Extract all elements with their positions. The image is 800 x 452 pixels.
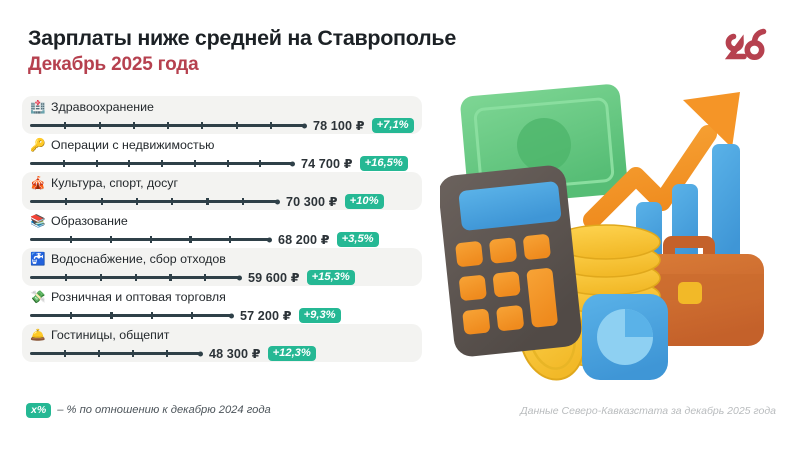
value-bar xyxy=(30,162,292,164)
bar-tick xyxy=(201,122,203,129)
bar-tick xyxy=(136,198,138,205)
bar-tick xyxy=(167,122,169,129)
logo-26 xyxy=(720,24,776,68)
row-category-label: Водоснабжение, сбор отходов xyxy=(51,251,226,268)
row-meter: 68 200 ₽+3,5% xyxy=(30,231,414,248)
pie-chart-tile-illustration xyxy=(582,294,668,380)
finance-3d-illustration xyxy=(440,78,790,390)
page-title: Зарплаты ниже средней на Ставрополье xyxy=(28,26,668,51)
bar-tick xyxy=(227,160,229,167)
row-category-label: Гостиницы, общепит xyxy=(51,327,169,344)
bar-tick xyxy=(99,122,101,129)
bar-tick xyxy=(151,312,153,319)
row-category-label: Розничная и оптовая торговля xyxy=(51,289,226,306)
bar-tick xyxy=(133,122,135,129)
salary-rows-list: 🏥Здравоохранение78 100 ₽+7,1%🔑Операции с… xyxy=(22,96,422,362)
table-row: 💸Розничная и оптовая торговля57 200 ₽+9,… xyxy=(22,286,422,324)
bellhop-bell-icon: 🛎️ xyxy=(30,329,45,342)
legend-badge: x% xyxy=(26,403,51,418)
row-category-label: Образование xyxy=(51,213,128,230)
bar-tick xyxy=(64,350,66,357)
bar-tick xyxy=(236,122,238,129)
bar-tick xyxy=(150,236,152,243)
row-meter: 78 100 ₽+7,1% xyxy=(30,117,414,134)
bar-tick xyxy=(204,274,206,281)
bar-tick xyxy=(110,236,112,243)
table-row: 🏥Здравоохранение78 100 ₽+7,1% xyxy=(22,96,422,134)
bar-tick xyxy=(161,160,163,167)
row-label: 🛎️Гостиницы, общепит xyxy=(30,327,414,344)
table-row: 🛎️Гостиницы, общепит48 300 ₽+12,3% xyxy=(22,324,422,362)
bar-tick xyxy=(65,198,67,205)
row-label: 🚰Водоснабжение, сбор отходов xyxy=(30,251,414,268)
bar-tick xyxy=(100,274,102,281)
row-meter: 57 200 ₽+9,3% xyxy=(30,307,414,324)
value-label: 68 200 ₽ xyxy=(278,232,330,247)
table-row: 📚Образование68 200 ₽+3,5% xyxy=(22,210,422,248)
value-label: 78 100 ₽ xyxy=(313,118,365,133)
bar-tick xyxy=(101,198,103,205)
bar-tick xyxy=(242,198,244,205)
row-meter: 70 300 ₽+10% xyxy=(30,193,414,210)
value-bar xyxy=(30,314,231,316)
header: Зарплаты ниже средней на Ставрополье Дек… xyxy=(28,26,668,77)
row-meter: 48 300 ₽+12,3% xyxy=(30,345,414,362)
value-label: 48 300 ₽ xyxy=(209,346,261,361)
bar-tick xyxy=(166,350,168,357)
row-category-label: Культура, спорт, досуг xyxy=(51,175,178,192)
bar-tick xyxy=(98,350,100,357)
bar-tick xyxy=(96,160,98,167)
books-icon: 📚 xyxy=(30,215,45,228)
key-icon: 🔑 xyxy=(30,139,45,152)
bar-tick xyxy=(135,274,137,281)
legend-text: – % по отношению к декабрю 2024 года xyxy=(57,404,271,416)
row-label: 🔑Операции с недвижимостью xyxy=(30,137,414,154)
bar-tick xyxy=(65,274,67,281)
bar-tick xyxy=(206,198,208,205)
bar-tick xyxy=(171,198,173,205)
bar-tick xyxy=(270,122,272,129)
change-badge: +10% xyxy=(345,194,384,210)
value-label: 59 600 ₽ xyxy=(248,270,300,285)
bar-tick xyxy=(70,312,72,319)
table-row: 🚰Водоснабжение, сбор отходов59 600 ₽+15,… xyxy=(22,248,422,286)
legend: x% – % по отношению к декабрю 2024 года xyxy=(26,403,271,418)
hospital-icon: 🏥 xyxy=(30,101,45,114)
potable-water-icon: 🚰 xyxy=(30,253,45,266)
row-label: 🏥Здравоохранение xyxy=(30,99,414,116)
calculator-illustration xyxy=(440,164,583,358)
row-meter: 59 600 ₽+15,3% xyxy=(30,269,414,286)
table-row: 🎪Культура, спорт, досуг70 300 ₽+10% xyxy=(22,172,422,210)
row-label: 📚Образование xyxy=(30,213,414,230)
bar-tick xyxy=(259,160,261,167)
bar-tick xyxy=(229,236,231,243)
value-bar xyxy=(30,238,269,240)
source-attribution: Данные Северо-Кавказстата за декабрь 202… xyxy=(520,405,776,417)
value-bar xyxy=(30,200,277,202)
table-row: 🔑Операции с недвижимостью74 700 ₽+16,5% xyxy=(22,134,422,172)
bar-tick xyxy=(63,160,65,167)
bar-tick xyxy=(64,122,66,129)
bar-tick xyxy=(194,160,196,167)
row-category-label: Операции с недвижимостью xyxy=(51,137,214,154)
value-bar xyxy=(30,276,239,278)
page-subtitle: Декабрь 2025 года xyxy=(28,54,668,77)
change-badge: +15,3% xyxy=(307,270,355,286)
value-bar xyxy=(30,124,304,126)
value-label: 70 300 ₽ xyxy=(286,194,338,209)
value-label: 74 700 ₽ xyxy=(301,156,353,171)
row-label: 💸Розничная и оптовая торговля xyxy=(30,289,414,306)
row-meter: 74 700 ₽+16,5% xyxy=(30,155,414,172)
change-badge: +7,1% xyxy=(372,118,414,134)
bar-tick xyxy=(169,274,171,281)
bar-tick xyxy=(128,160,130,167)
circus-tent-icon: 🎪 xyxy=(30,177,45,190)
change-badge: +3,5% xyxy=(337,232,379,248)
bar-tick xyxy=(191,312,193,319)
change-badge: +16,5% xyxy=(360,156,408,172)
change-badge: +9,3% xyxy=(299,308,341,324)
row-label: 🎪Культура, спорт, досуг xyxy=(30,175,414,192)
bar-tick xyxy=(110,312,112,319)
row-category-label: Здравоохранение xyxy=(51,99,154,116)
value-bar xyxy=(30,352,200,354)
change-badge: +12,3% xyxy=(268,346,316,362)
bar-tick xyxy=(189,236,191,243)
bar-tick xyxy=(70,236,72,243)
money-with-wings-icon: 💸 xyxy=(30,291,45,304)
bar-tick xyxy=(132,350,134,357)
value-label: 57 200 ₽ xyxy=(240,308,292,323)
